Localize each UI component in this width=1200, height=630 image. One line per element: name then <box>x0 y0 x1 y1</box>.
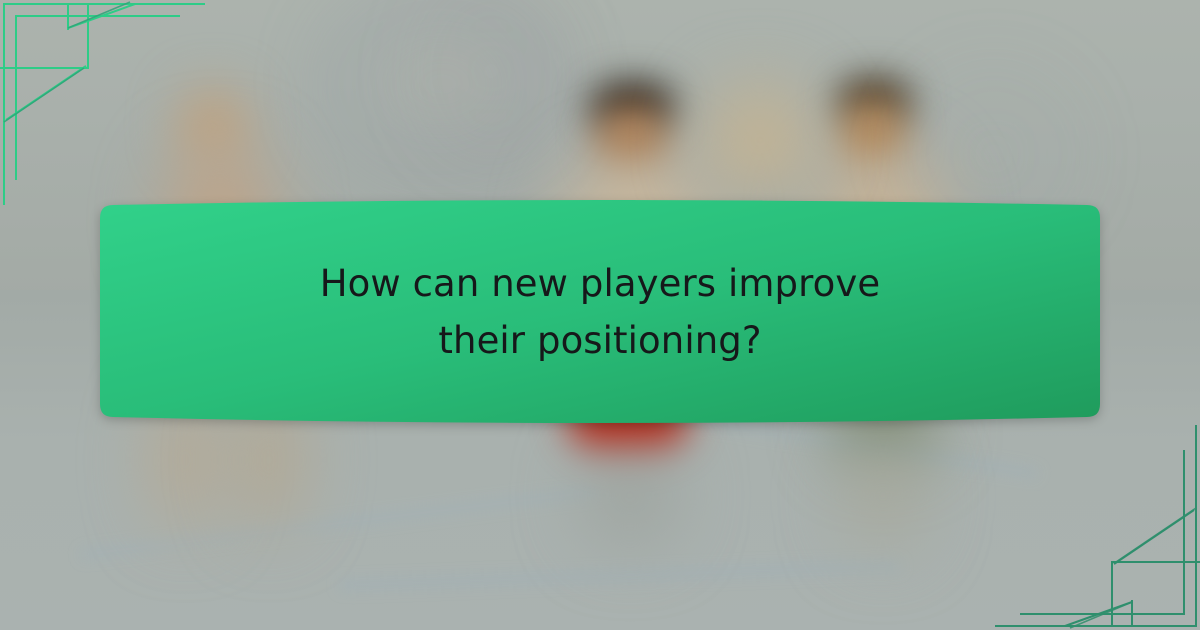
question-headline: How can new players improve their positi… <box>290 255 910 370</box>
hoop-ring-inner-highlight <box>430 0 552 147</box>
screenshot-canvas: How can new players improve their positi… <box>0 0 1200 630</box>
question-card: How can new players improve their positi… <box>100 196 1100 428</box>
question-text-area: How can new players improve their positi… <box>100 196 1100 428</box>
player-right-legs <box>848 440 918 550</box>
background-figure-far <box>705 85 815 195</box>
player-center-legs <box>585 445 675 545</box>
